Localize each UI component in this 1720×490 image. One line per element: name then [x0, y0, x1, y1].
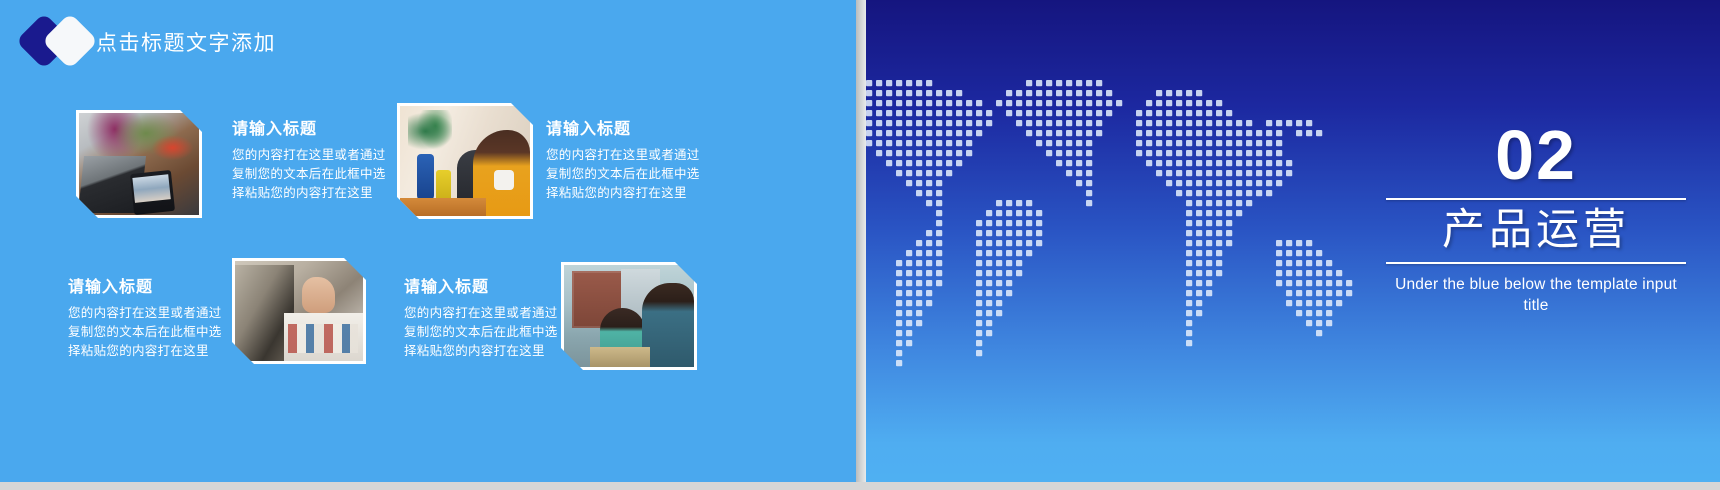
text-block-2: 请输入标题 您的内容打在这里或者通过复制您的文本后在此框中选择粘贴您的内容打在这… [546, 120, 700, 203]
logo [24, 18, 102, 68]
cell-3-body: 您的内容打在这里或者通过复制您的文本后在此框中选择粘贴您的内容打在这里 [68, 304, 222, 361]
slide-header: 点击标题文字添加 [0, 0, 856, 80]
photo-laptop-phone-desk [76, 110, 202, 218]
panel-divider [856, 0, 866, 482]
cell-2-title: 请输入标题 [546, 120, 700, 140]
text-block-4: 请输入标题 您的内容打在这里或者通过复制您的文本后在此框中选择粘贴您的内容打在这… [404, 278, 558, 361]
photo-team-laptop-window [561, 262, 697, 370]
right-panel: 02 产品运营 Under the blue below the templat… [866, 0, 1720, 482]
section-number: 02 [1386, 118, 1686, 192]
bottom-strip [0, 482, 1720, 490]
cell-4-title: 请输入标题 [404, 278, 558, 298]
page-title: 点击标题文字添加 [96, 27, 276, 57]
left-panel: 点击标题文字添加 请输入标题 您的内容打在这里或者通过复制您的文本后在此框中选择… [0, 0, 856, 482]
section-subtitle: Under the blue below the template input … [1386, 274, 1686, 316]
text-block-3: 请输入标题 您的内容打在这里或者通过复制您的文本后在此框中选择粘贴您的内容打在这… [68, 278, 222, 361]
text-block-1: 请输入标题 您的内容打在这里或者通过复制您的文本后在此框中选择粘贴您的内容打在这… [232, 120, 386, 203]
slide: 点击标题文字添加 请输入标题 您的内容打在这里或者通过复制您的文本后在此框中选择… [0, 0, 1720, 490]
photo-woman-coffee-office [397, 103, 533, 219]
section-title: 产品运营 [1386, 200, 1686, 262]
heading-rule-bottom [1386, 262, 1686, 264]
cell-1-title: 请输入标题 [232, 120, 386, 140]
cell-3-title: 请输入标题 [68, 278, 222, 298]
cell-2-body: 您的内容打在这里或者通过复制您的文本后在此框中选择粘贴您的内容打在这里 [546, 146, 700, 203]
section-heading-group: 02 产品运营 Under the blue below the templat… [1386, 118, 1686, 316]
cell-1-body: 您的内容打在这里或者通过复制您的文本后在此框中选择粘贴您的内容打在这里 [232, 146, 386, 203]
photo-hands-magazine [232, 258, 366, 364]
cell-4-body: 您的内容打在这里或者通过复制您的文本后在此框中选择粘贴您的内容打在这里 [404, 304, 558, 361]
